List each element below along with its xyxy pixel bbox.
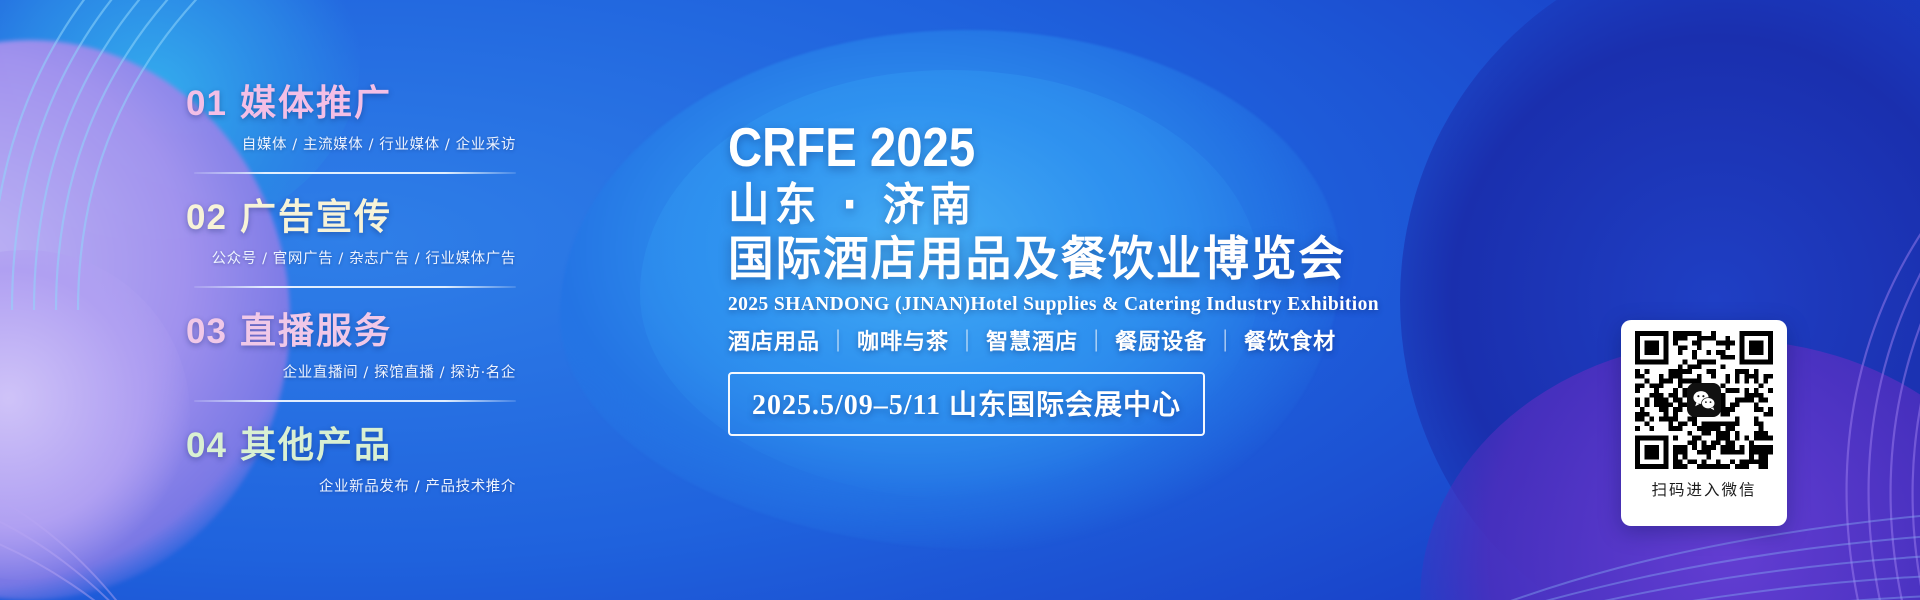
service-heading: 03 直播服务: [186, 302, 516, 354]
category-item: 餐厨设备: [1115, 329, 1207, 355]
service-number: 01: [186, 84, 227, 124]
services-list: 01 媒体推广 自媒体 / 主流媒体 / 行业媒体 / 企业采访 02 广告宣传…: [186, 74, 516, 502]
wechat-logo-icon: [1687, 383, 1721, 417]
service-title: 直播服务: [240, 302, 392, 354]
event-city: 山东 · 济南: [728, 181, 1206, 228]
event-banner: 01 媒体推广 自媒体 / 主流媒体 / 行业媒体 / 企业采访 02 广告宣传…: [0, 0, 1920, 600]
service-subtitle: 企业新品发布 / 产品技术推介: [186, 475, 516, 496]
list-item[interactable]: 03 直播服务 企业直播间 / 探馆直播 / 探访·名企: [186, 302, 516, 388]
category-separator: ｜: [1207, 330, 1244, 355]
service-title: 媒体推广: [240, 74, 392, 126]
divider: [194, 286, 516, 288]
category-item: 餐饮食材: [1244, 329, 1336, 355]
date-venue-box: 2025.5/09–5/11 山东国际会展中心: [728, 372, 1205, 436]
event-code-year: CRFE 2025: [728, 120, 1175, 175]
event-title-en: 2025 SHANDONG (JINAN)Hotel Supplies & Ca…: [728, 294, 1248, 316]
qr-card[interactable]: 扫码进入微信: [1621, 320, 1787, 526]
category-item: 咖啡与茶: [857, 329, 949, 355]
category-item: 智慧酒店: [986, 329, 1078, 355]
date-venue-text: 2025.5/09–5/11 山东国际会展中心: [752, 383, 1181, 423]
service-title: 其他产品: [240, 416, 392, 468]
service-title: 广告宣传: [240, 188, 392, 240]
service-number: 03: [186, 312, 227, 352]
event-category-list: 酒店用品｜咖啡与茶｜智慧酒店｜餐厨设备｜餐饮食材: [728, 324, 1248, 356]
category-separator: ｜: [949, 330, 986, 355]
service-heading: 01 媒体推广: [186, 74, 516, 126]
category-separator: ｜: [1078, 330, 1115, 355]
service-heading: 02 广告宣传: [186, 188, 516, 240]
qr-caption: 扫码进入微信: [1651, 478, 1756, 500]
background-blob-violet-small: [0, 250, 190, 580]
list-item[interactable]: 02 广告宣传 公众号 / 官网广告 / 杂志广告 / 行业媒体广告: [186, 188, 516, 274]
list-item[interactable]: 04 其他产品 企业新品发布 / 产品技术推介: [186, 416, 516, 502]
divider: [194, 172, 516, 174]
category-item: 酒店用品: [728, 329, 820, 355]
service-number: 02: [186, 198, 227, 238]
list-item[interactable]: 01 媒体推广 自媒体 / 主流媒体 / 行业媒体 / 企业采访: [186, 74, 516, 160]
service-heading: 04 其他产品: [186, 416, 516, 468]
divider: [194, 400, 516, 402]
qr-code-image[interactable]: [1635, 331, 1773, 469]
service-number: 04: [186, 426, 227, 466]
category-separator: ｜: [820, 330, 857, 355]
service-subtitle: 公众号 / 官网广告 / 杂志广告 / 行业媒体广告: [186, 247, 516, 268]
event-title-cn: 国际酒店用品及餐饮业博览会: [728, 235, 1232, 286]
service-subtitle: 企业直播间 / 探馆直播 / 探访·名企: [186, 361, 516, 382]
service-subtitle: 自媒体 / 主流媒体 / 行业媒体 / 企业采访: [186, 133, 516, 154]
event-info-block: CRFE 2025 山东 · 济南 国际酒店用品及餐饮业博览会 2025 SHA…: [728, 120, 1248, 436]
